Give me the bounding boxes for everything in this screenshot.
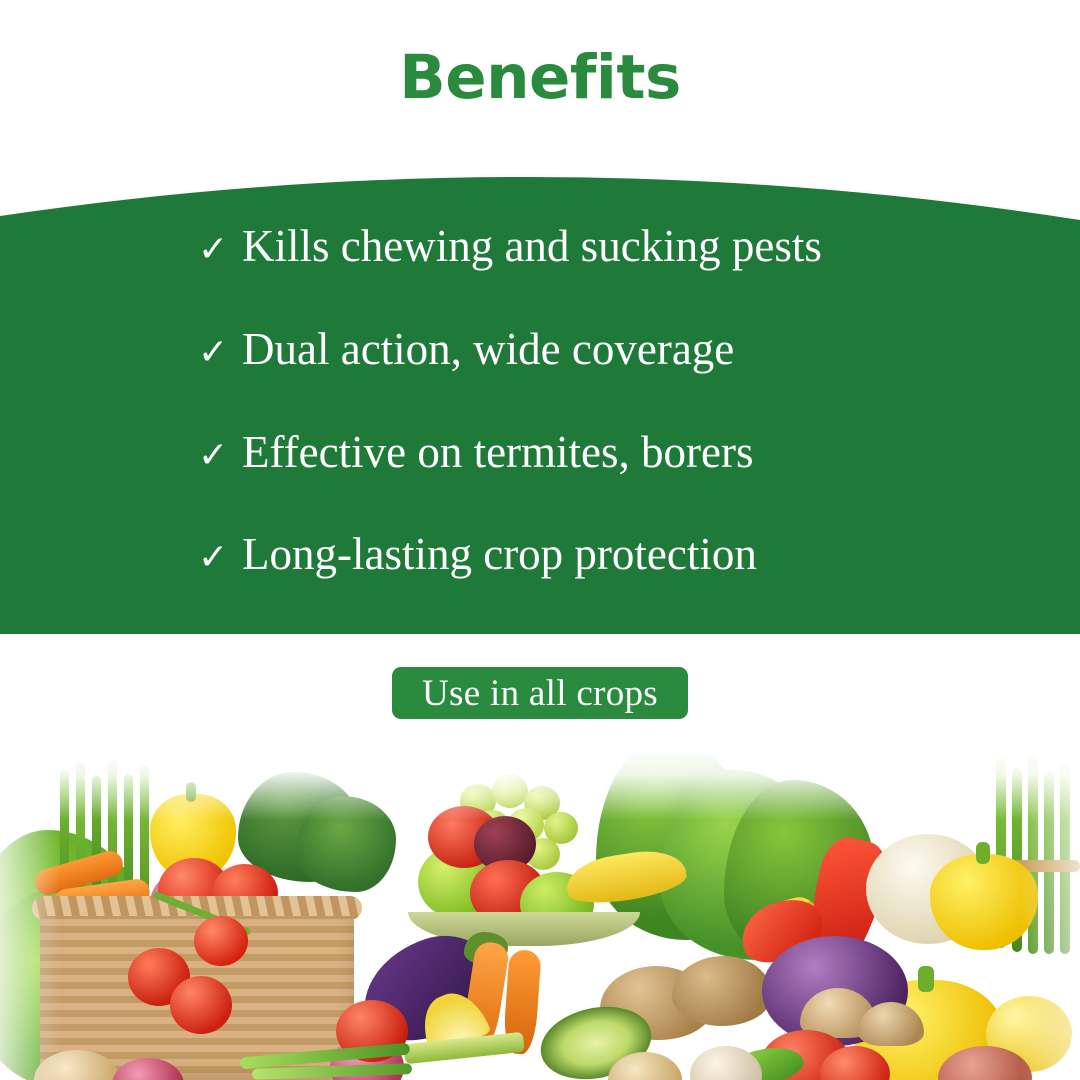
list-item-label: Long-lasting crop protection (242, 532, 757, 577)
benefits-infographic: Benefits ✓ Kills chewing and sucking pes… (0, 0, 1080, 1080)
pepper-stem-icon (976, 842, 990, 864)
check-icon: ✓ (198, 540, 242, 576)
potato-icon (672, 956, 772, 1026)
list-item-label: Effective on termites, borers (242, 430, 753, 475)
broccoli-icon (296, 796, 396, 892)
check-icon: ✓ (198, 232, 242, 268)
check-icon: ✓ (198, 438, 242, 474)
page-title: Benefits (0, 46, 1080, 110)
asparagus-icon (1060, 764, 1070, 954)
list-item: ✓ Effective on termites, borers (198, 430, 753, 475)
produce-illustration (0, 750, 1080, 1080)
list-item: ✓ Dual action, wide coverage (198, 327, 734, 372)
grapes-icon (492, 774, 528, 808)
benefits-list: ✓ Kills chewing and sucking pests ✓ Dual… (0, 142, 1080, 634)
check-icon: ✓ (198, 335, 242, 371)
pepper-stem-icon (918, 966, 934, 992)
produce-photo (0, 750, 1080, 1080)
list-item: ✓ Kills chewing and sucking pests (198, 224, 822, 269)
list-item-label: Kills chewing and sucking pests (242, 224, 822, 269)
use-in-all-crops-badge: Use in all crops (392, 667, 688, 719)
list-item-label: Dual action, wide coverage (242, 327, 734, 372)
tomato-icon (194, 916, 248, 966)
pepper-stem-icon (186, 782, 196, 802)
tomato-icon (170, 976, 232, 1034)
list-item: ✓ Long-lasting crop protection (198, 532, 757, 577)
